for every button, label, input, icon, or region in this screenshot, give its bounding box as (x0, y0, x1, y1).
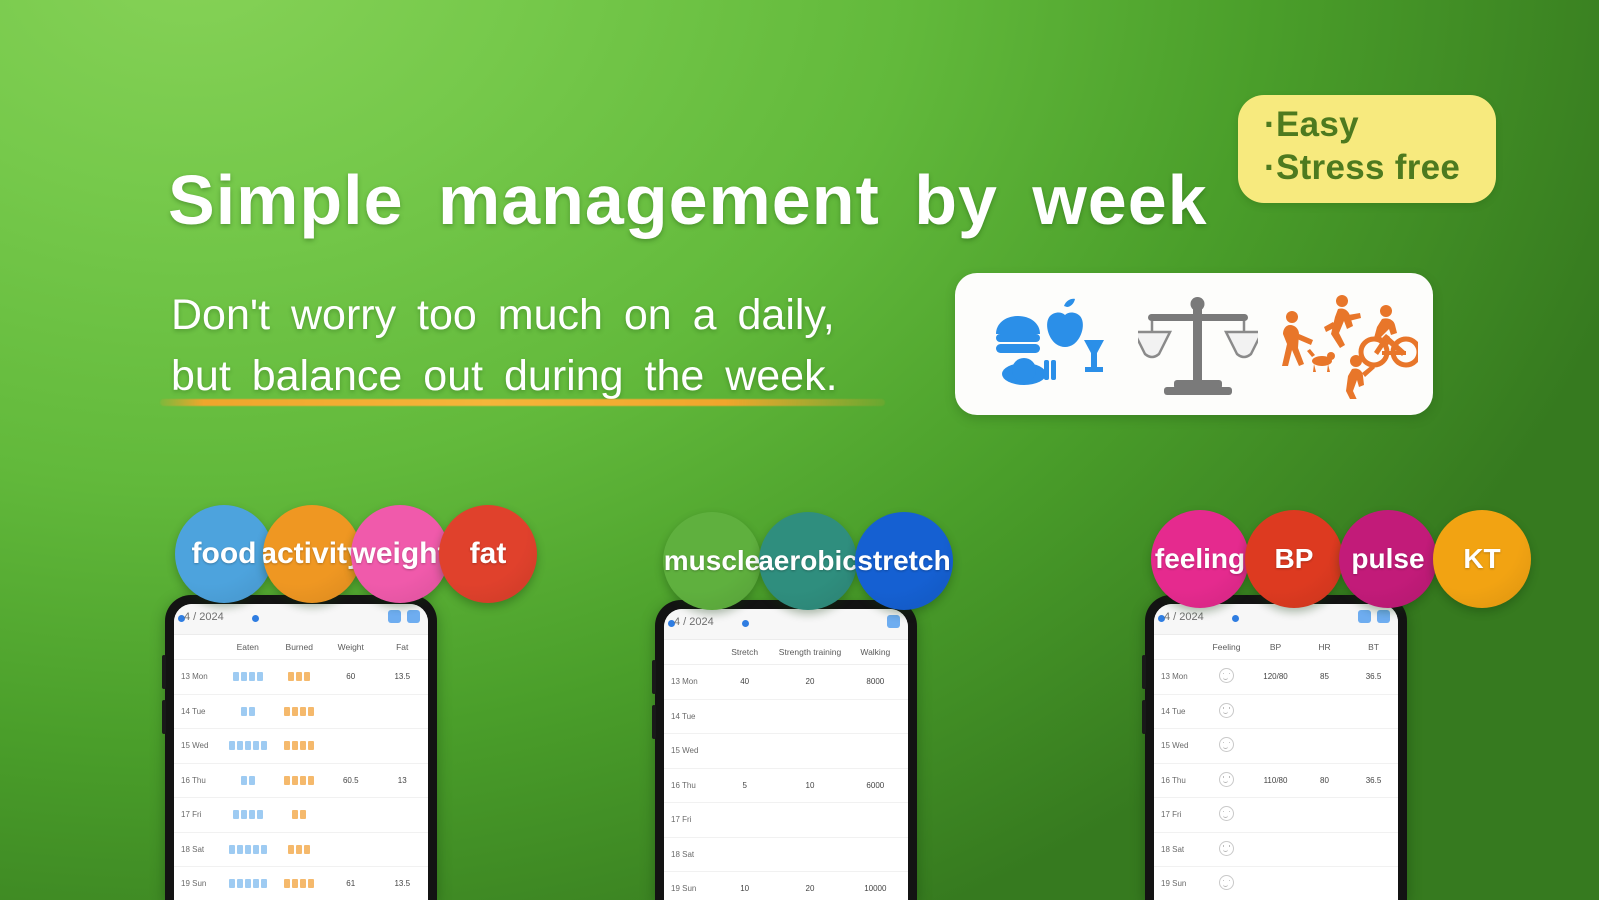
cell-strength-training (777, 803, 842, 838)
cell-hr (1300, 832, 1349, 867)
power-button[interactable] (162, 700, 166, 734)
statusbar-icons (1358, 610, 1390, 623)
table-row[interactable]: 14 Tue (174, 694, 428, 729)
table-row[interactable]: 13 Mon120/808536.5 (1154, 660, 1398, 695)
cell-strength-training: 20 (777, 872, 842, 900)
cell-bp (1251, 798, 1300, 833)
table-row[interactable]: 14 Tue (1154, 694, 1398, 729)
volume-button[interactable] (652, 660, 656, 694)
volume-button[interactable] (162, 655, 166, 689)
cell-weight (325, 729, 377, 764)
table-row[interactable]: 17 Fri (1154, 798, 1398, 833)
volume-button[interactable] (1142, 655, 1146, 689)
cell-bp: 120/80 (1251, 660, 1300, 695)
cell-eaten (222, 798, 274, 833)
cell-walking (843, 734, 908, 769)
smiley-icon (1219, 841, 1234, 856)
cell-feeling (1202, 798, 1251, 833)
cell-fat (377, 729, 429, 764)
cell-weight: 60 (325, 660, 377, 695)
next-week-icon[interactable] (742, 620, 749, 627)
week-table: EatenBurnedWeightFat13 Mon6013.514 Tue15… (174, 635, 428, 900)
cell-eaten (222, 660, 274, 695)
column-header-day (174, 635, 222, 660)
cell-day: 15 Wed (174, 729, 222, 764)
cell-feeling (1202, 729, 1251, 764)
table-row[interactable]: 13 Mon6013.5 (174, 660, 428, 695)
cell-fat: 13.5 (377, 867, 429, 900)
column-header-strength-training: Strength training (777, 640, 842, 665)
cell-weight: 61 (325, 867, 377, 900)
table-header-row: StretchStrength trainingWalking (664, 640, 908, 665)
cell-day: 17 Fri (1154, 798, 1202, 833)
subtitle-line-1: Don't worry too much on a daily, (171, 285, 911, 346)
category-bubble-kt[interactable]: KT (1433, 510, 1531, 608)
week-table: StretchStrength trainingWalking13 Mon402… (664, 640, 908, 900)
bubble-label: activity (263, 537, 361, 571)
vitals-phone: 4 / 2024FeelingBPHRBT13 Mon120/808536.51… (1145, 595, 1407, 900)
cell-weight: 60.5 (325, 763, 377, 798)
next-week-icon[interactable] (1232, 615, 1239, 622)
cell-fat: 13.5 (377, 660, 429, 695)
cell-eaten (222, 694, 274, 729)
cell-hr: 80 (1300, 763, 1349, 798)
column-header-feeling: Feeling (1202, 635, 1251, 660)
month-label: 4 / 2024 (1164, 611, 1204, 623)
smiley-icon (1219, 737, 1234, 752)
cell-fat (377, 694, 429, 729)
cell-walking (843, 803, 908, 838)
cell-day: 17 Fri (664, 803, 712, 838)
table-header-row: FeelingBPHRBT (1154, 635, 1398, 660)
chart-icon[interactable] (388, 610, 401, 623)
phone-screen: 4 / 2024EatenBurnedWeightFat13 Mon6013.5… (174, 604, 428, 900)
column-header-hr: HR (1300, 635, 1349, 660)
month-label: 4 / 2024 (674, 616, 714, 628)
cell-day: 13 Mon (174, 660, 222, 695)
cell-bt (1349, 694, 1398, 729)
activity-people-icon (1273, 273, 1423, 415)
food-group-icon (973, 273, 1123, 415)
cell-walking: 8000 (843, 665, 908, 700)
table-row[interactable]: 19 Sun102010000 (664, 872, 908, 900)
cell-burned (274, 660, 326, 695)
power-button[interactable] (1142, 700, 1146, 734)
table-row[interactable]: 19 Sun6113.5 (174, 867, 428, 900)
cell-stretch (712, 734, 777, 769)
category-bubble-feeling[interactable]: feeling (1151, 510, 1249, 608)
category-bubble-fat[interactable]: fat (439, 505, 537, 603)
bubble-label: pulse (1351, 543, 1424, 575)
column-header-weight: Weight (325, 635, 377, 660)
bubble-label: fat (470, 537, 507, 571)
category-bubble-weight[interactable]: weight (351, 505, 449, 603)
cell-bt (1349, 798, 1398, 833)
cell-burned (274, 867, 326, 900)
bubble-label: KT (1463, 543, 1500, 575)
statusbar-icons (887, 615, 900, 628)
cell-day: 19 Sun (1154, 867, 1202, 900)
column-header-day (664, 640, 712, 665)
table-row[interactable]: 17 Fri (664, 803, 908, 838)
cell-day: 16 Thu (664, 768, 712, 803)
badge-line-easy: ·Easy (1264, 105, 1359, 145)
smiley-icon (1219, 875, 1234, 890)
table-row[interactable]: 14 Tue (664, 699, 908, 734)
promo-banner: Simple management by week ·Easy ·Stress … (0, 0, 1599, 900)
cell-stretch (712, 837, 777, 872)
cell-hr (1300, 729, 1349, 764)
cell-bp: 110/80 (1251, 763, 1300, 798)
table-row[interactable]: 18 Sat (174, 832, 428, 867)
table-row[interactable]: 17 Fri (174, 798, 428, 833)
cell-feeling (1202, 867, 1251, 900)
table-row[interactable]: 15 Wed (174, 729, 428, 764)
column-header-day (1154, 635, 1202, 660)
category-bubble-muscle[interactable]: muscle (663, 512, 761, 610)
cell-stretch (712, 699, 777, 734)
cell-day: 19 Sun (174, 867, 222, 900)
category-bubble-stretch[interactable]: stretch (855, 512, 953, 610)
chart-icon[interactable] (1358, 610, 1371, 623)
cell-fat (377, 832, 429, 867)
cell-stretch (712, 803, 777, 838)
page-title: Simple management by week (168, 153, 1208, 247)
cell-strength-training (777, 734, 842, 769)
cell-bp (1251, 729, 1300, 764)
bubble-label: aerobic (759, 545, 857, 577)
cell-day: 16 Thu (174, 763, 222, 798)
cell-feeling (1202, 694, 1251, 729)
cell-burned (274, 798, 326, 833)
cell-burned (274, 763, 326, 798)
bubble-label: BP (1275, 543, 1314, 575)
phone-screen: 4 / 2024StretchStrength trainingWalking1… (664, 609, 908, 900)
food-phone: 4 / 2024EatenBurnedWeightFat13 Mon6013.5… (165, 595, 437, 900)
cell-strength-training: 10 (777, 768, 842, 803)
app-statusbar: 4 / 2024 (664, 609, 908, 640)
table-row[interactable]: 16 Thu5106000 (664, 768, 908, 803)
table-row[interactable]: 16 Thu60.513 (174, 763, 428, 798)
cell-day: 14 Tue (1154, 694, 1202, 729)
table-row[interactable]: 13 Mon40208000 (664, 665, 908, 700)
calendar-icon[interactable] (1377, 610, 1390, 623)
exercise-phone: 4 / 2024StretchStrength trainingWalking1… (655, 600, 917, 900)
week-table: FeelingBPHRBT13 Mon120/808536.514 Tue15 … (1154, 635, 1398, 900)
cell-hr (1300, 867, 1349, 900)
month-label: 4 / 2024 (184, 611, 224, 623)
app-statusbar: 4 / 2024 (1154, 604, 1398, 635)
cell-walking: 10000 (843, 872, 908, 900)
cell-bt (1349, 729, 1398, 764)
subtitle-underline (160, 399, 885, 406)
cell-day: 14 Tue (174, 694, 222, 729)
cell-hr (1300, 798, 1349, 833)
bubble-label: muscle (664, 545, 761, 577)
cell-fat (377, 798, 429, 833)
column-header-burned: Burned (274, 635, 326, 660)
cell-eaten (222, 729, 274, 764)
cell-day: 13 Mon (664, 665, 712, 700)
cell-bp (1251, 867, 1300, 900)
cell-day: 18 Sat (174, 832, 222, 867)
smiley-icon (1219, 806, 1234, 821)
cell-burned (274, 694, 326, 729)
table-row[interactable]: 18 Sat (664, 837, 908, 872)
cell-strength-training: 20 (777, 665, 842, 700)
column-header-bp: BP (1251, 635, 1300, 660)
cell-strength-training (777, 837, 842, 872)
phone-screen: 4 / 2024FeelingBPHRBT13 Mon120/808536.51… (1154, 604, 1398, 900)
category-bubble-pulse[interactable]: pulse (1339, 510, 1437, 608)
cell-day: 14 Tue (664, 699, 712, 734)
statusbar-icons (388, 610, 420, 623)
cell-bt: 36.5 (1349, 660, 1398, 695)
cell-day: 17 Fri (174, 798, 222, 833)
subtitle: Don't worry too much on a daily, but bal… (171, 285, 911, 407)
column-header-fat: Fat (377, 635, 429, 660)
cell-hr: 85 (1300, 660, 1349, 695)
cell-bt: 36.5 (1349, 763, 1398, 798)
cell-eaten (222, 867, 274, 900)
power-button[interactable] (652, 705, 656, 739)
cell-day: 15 Wed (664, 734, 712, 769)
cell-feeling (1202, 660, 1251, 695)
table-header-row: EatenBurnedWeightFat (174, 635, 428, 660)
cell-walking (843, 699, 908, 734)
bubble-label: food (192, 537, 257, 571)
cell-day: 13 Mon (1154, 660, 1202, 695)
cell-hr (1300, 694, 1349, 729)
table-row[interactable]: 18 Sat (1154, 832, 1398, 867)
cell-day: 16 Thu (1154, 763, 1202, 798)
cell-stretch: 5 (712, 768, 777, 803)
chart-icon[interactable] (887, 615, 900, 628)
app-statusbar: 4 / 2024 (174, 604, 428, 635)
cell-day: 15 Wed (1154, 729, 1202, 764)
column-header-eaten: Eaten (222, 635, 274, 660)
cell-walking: 6000 (843, 768, 908, 803)
table-row[interactable]: 15 Wed (664, 734, 908, 769)
cell-weight (325, 832, 377, 867)
smiley-icon (1219, 772, 1234, 787)
cell-stretch: 10 (712, 872, 777, 900)
category-bubble-aerobic[interactable]: aerobic (759, 512, 857, 610)
cell-bt (1349, 867, 1398, 900)
cell-day: 18 Sat (664, 837, 712, 872)
column-header-stretch: Stretch (712, 640, 777, 665)
calendar-icon[interactable] (407, 610, 420, 623)
cell-weight (325, 694, 377, 729)
category-bubble-activity[interactable]: activity (263, 505, 361, 603)
cell-feeling (1202, 832, 1251, 867)
cell-burned (274, 729, 326, 764)
table-row[interactable]: 16 Thu110/808036.5 (1154, 763, 1398, 798)
subtitle-line-2: but balance out during the week. (171, 346, 911, 407)
cell-bp (1251, 832, 1300, 867)
smiley-icon (1219, 668, 1234, 683)
cell-fat: 13 (377, 763, 429, 798)
category-bubble-bp[interactable]: BP (1245, 510, 1343, 608)
next-week-icon[interactable] (252, 615, 259, 622)
bubble-label: stretch (857, 545, 950, 577)
concept-icon-card (955, 273, 1433, 415)
cell-day: 18 Sat (1154, 832, 1202, 867)
cell-bp (1251, 694, 1300, 729)
cell-day: 19 Sun (664, 872, 712, 900)
cell-strength-training (777, 699, 842, 734)
smiley-icon (1219, 703, 1234, 718)
balance-scale-icon (1130, 273, 1265, 415)
cell-weight (325, 798, 377, 833)
cell-eaten (222, 763, 274, 798)
table-row[interactable]: 15 Wed (1154, 729, 1398, 764)
table-row[interactable]: 19 Sun (1154, 867, 1398, 900)
cell-walking (843, 837, 908, 872)
column-header-bt: BT (1349, 635, 1398, 660)
category-bubble-food[interactable]: food (175, 505, 273, 603)
badge-line-stress-free: ·Stress free (1264, 148, 1460, 188)
feature-badge: ·Easy ·Stress free (1238, 95, 1496, 203)
cell-feeling (1202, 763, 1251, 798)
column-header-walking: Walking (843, 640, 908, 665)
cell-eaten (222, 832, 274, 867)
cell-bt (1349, 832, 1398, 867)
bubble-label: weight (353, 537, 448, 571)
cell-burned (274, 832, 326, 867)
cell-stretch: 40 (712, 665, 777, 700)
bubble-label: feeling (1155, 543, 1245, 575)
